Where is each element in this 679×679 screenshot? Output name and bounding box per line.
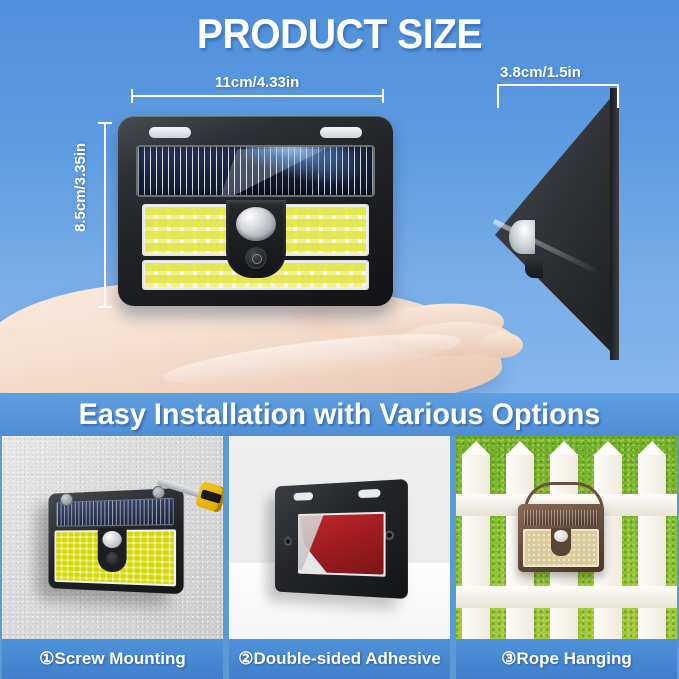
rope-slot-right — [358, 489, 380, 498]
installation-options: ①Screw Mounting ②Double-sided Adhesive — [0, 436, 679, 679]
option-panel-screw-mounting: ①Screw Mounting — [2, 436, 223, 679]
option-panel-adhesive: ②Double-sided Adhesive — [229, 436, 450, 679]
led-block-top-right — [281, 204, 369, 256]
height-tick-top — [98, 122, 112, 124]
depth-tick-right — [617, 84, 619, 108]
banner-title: Easy Installation with Various Options — [14, 393, 666, 436]
rope-slot-left — [149, 127, 191, 138]
product-infographic: PRODUCT SIZE — [0, 0, 679, 679]
panel-caption: ③Rope Hanging — [456, 639, 677, 679]
motion-sensor-icon — [509, 220, 535, 254]
finger — [479, 332, 523, 358]
fence-picket — [462, 454, 490, 639]
panel-caption: ①Screw Mounting — [2, 639, 223, 679]
power-button — [245, 247, 267, 269]
solar-lamp-back-view — [275, 479, 408, 599]
led-chips — [145, 207, 227, 253]
page-title: PRODUCT SIZE — [24, 11, 655, 57]
depth-dimension-label: 3.8cm/1.5in — [500, 64, 581, 81]
screw-hole-right — [385, 531, 394, 541]
adhesive-recess — [298, 512, 386, 577]
solar-lamp-front-view — [118, 116, 393, 306]
solar-panel — [56, 498, 174, 527]
rope-hanging-photo — [456, 436, 677, 639]
motion-sensor-icon — [551, 528, 571, 556]
power-button — [525, 256, 543, 278]
height-dimension-line — [104, 122, 106, 308]
screw-mounting-photo — [2, 436, 223, 639]
width-tick-left — [131, 89, 133, 103]
sensor-housing — [226, 200, 286, 278]
screw-icon — [152, 486, 165, 499]
lamp-back-edge — [610, 88, 619, 360]
width-tick-right — [382, 89, 384, 103]
screw-icon — [60, 493, 73, 506]
width-dimension-label: 11cm/4.33in — [215, 74, 299, 91]
depth-tick-left — [497, 84, 499, 108]
motion-sensor-icon — [236, 207, 276, 241]
solar-panel — [524, 510, 598, 525]
height-dimension-label: 8.5cm/3.35in — [72, 143, 89, 232]
width-dimension-line — [131, 95, 384, 97]
rope-slot-left — [294, 492, 313, 501]
rope-slot-right — [320, 127, 362, 138]
solar-lamp-hanging — [518, 504, 604, 572]
panel-caption: ②Double-sided Adhesive — [229, 639, 450, 679]
motion-sensor-icon — [98, 528, 127, 573]
height-tick-bottom — [98, 306, 112, 308]
product-size-section: PRODUCT SIZE — [0, 0, 679, 393]
led-chips — [284, 207, 366, 253]
solar-lamp-side-view — [487, 88, 619, 360]
adhesive-photo — [229, 436, 450, 639]
fence-rail — [456, 586, 677, 608]
depth-dimension-line — [497, 84, 619, 86]
installation-banner: Easy Installation with Various Options — [0, 393, 679, 436]
led-block-top-left — [142, 204, 230, 256]
option-panel-rope-hanging: ③Rope Hanging — [456, 436, 677, 679]
solar-panel — [136, 145, 375, 197]
screw-hole-left — [284, 537, 292, 546]
fence-picket — [638, 454, 666, 639]
